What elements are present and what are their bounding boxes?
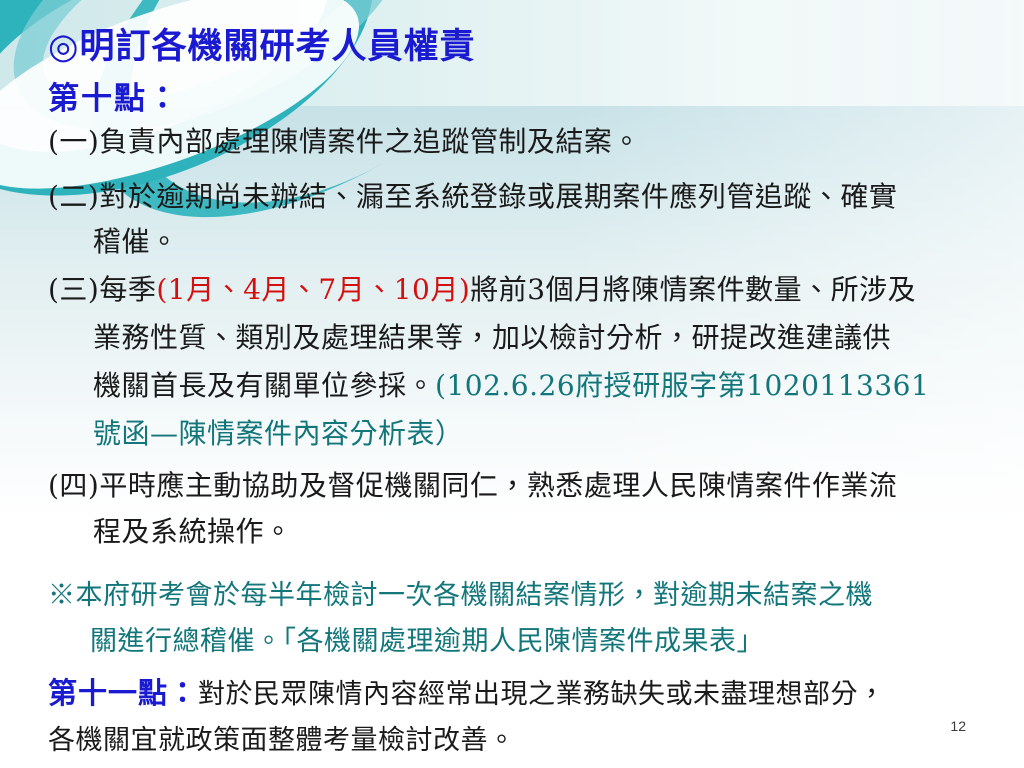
list-item-3-line-4-citation-cont: 號函—陳情案件內容分析表） bbox=[93, 420, 464, 448]
section-heading-point-ten: 第十點： bbox=[48, 73, 180, 118]
list-item-2-line-2: 稽催。 bbox=[93, 228, 179, 256]
section-heading-point-eleven: 第十一點： bbox=[48, 676, 198, 710]
slide-canvas: ◎明訂各機關研考人員權責 第十點： (一)負責內部處理陳情案件之追蹤管制及結案。… bbox=[0, 0, 1024, 768]
list-item-3-line-2: 業務性質、類別及處理結果等，加以檢討分析，研提改進建議供 bbox=[93, 324, 891, 352]
note-line-2: 關進行總稽催。「各機關處理逾期人民陳情案件成果表」 bbox=[90, 619, 764, 658]
slide-content: ◎明訂各機關研考人員權責 第十點： (一)負責內部處理陳情案件之追蹤管制及結案。… bbox=[0, 0, 1024, 768]
list-item-1-line-1: (一)負責內部處理陳情案件之追蹤管制及結案。 bbox=[48, 128, 641, 156]
closing-line-1-text: 對於民眾陳情內容經常出現之業務缺失或未盡理想部分， bbox=[198, 679, 886, 710]
list-item-4-line-2: 程及系統操作。 bbox=[93, 518, 293, 546]
page-number: 12 bbox=[950, 718, 966, 734]
list-item-3-prefix: (三)每季 bbox=[48, 273, 156, 306]
list-item-3-line-3-black: 機關首長及有關單位參採。 bbox=[93, 369, 435, 402]
list-item-3-suffix: 將前3個月將陳情案件數量、所涉及 bbox=[470, 273, 916, 306]
closing-line-1: 第十一點：對於民眾陳情內容經常出現之業務缺失或未盡理想部分， bbox=[48, 670, 886, 712]
slide-title: ◎明訂各機關研考人員權責 bbox=[48, 18, 476, 69]
list-item-3-line-1: (三)每季(1月、4月、7月、10月)將前3個月將陳情案件數量、所涉及 bbox=[48, 276, 916, 304]
list-item-2-line-1: (二)對於逾期尚未辦結、漏至系統登錄或展期案件應列管追蹤、確實 bbox=[48, 183, 897, 211]
list-item-3-months-highlight: (1月、4月、7月、10月) bbox=[156, 273, 470, 306]
list-item-3-line-3: 機關首長及有關單位參採。(102.6.26府授研服字第1020113361 bbox=[93, 372, 929, 400]
list-item-3-reference-citation: (102.6.26府授研服字第1020113361 bbox=[435, 369, 929, 402]
note-line-1: ※本府研考會於每半年檢討一次各機關結案情形，對逾期未結案之機 bbox=[48, 573, 873, 612]
closing-line-2: 各機關宜就政策面整體考量檢討改善。 bbox=[48, 718, 516, 757]
list-item-4-line-1: (四)平時應主動協助及督促機關同仁，熟悉處理人民陳情案件作業流 bbox=[48, 472, 897, 500]
